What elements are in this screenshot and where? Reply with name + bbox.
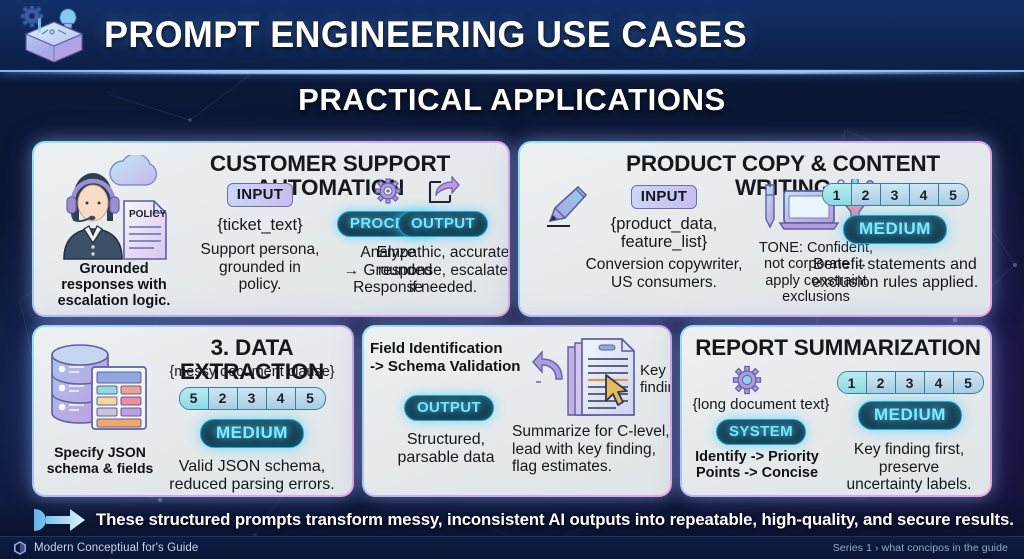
badge-input-copy[interactable]: INPUT bbox=[631, 185, 698, 209]
support-output-line-1: Empathic, accurate bbox=[377, 244, 508, 262]
card-title-field-identification: Field Identification -> Schema Validatio… bbox=[370, 340, 538, 376]
step-chip[interactable]: 3 bbox=[238, 388, 267, 409]
card-data-extraction[interactable]: Specify JSON schema & fields 3. DATA EXT… bbox=[32, 325, 354, 497]
step-chip[interactable]: 5 bbox=[180, 388, 209, 409]
footer-brand-group: Modern Conceptiual for's Guide bbox=[13, 541, 198, 555]
data-text-line-2: reduced parsing errors. bbox=[169, 476, 334, 494]
right-arrow-icon bbox=[34, 507, 86, 533]
step-chip[interactable]: 5 bbox=[954, 372, 983, 393]
copy-input-line-2: US consumers. bbox=[586, 274, 743, 292]
badge-medium-report[interactable]: MEDIUM bbox=[858, 401, 962, 430]
step-chip[interactable]: 1 bbox=[823, 184, 852, 205]
summary-banner: These structured prompts transform messy… bbox=[0, 503, 1024, 536]
data-icon-caption: Specify JSON schema & fields bbox=[38, 445, 162, 476]
header-divider-glow bbox=[0, 70, 1024, 74]
field-right-text: Summarize for C-level, lead with key fin… bbox=[512, 423, 670, 476]
support-input-line-2: grounded in bbox=[201, 259, 320, 277]
step-chip[interactable]: 1 bbox=[838, 372, 867, 393]
step-indicator-report[interactable]: 1 2 3 4 5 bbox=[837, 371, 984, 394]
column-medium-copy: 1 2 3 4 5 MEDIUM Benefit statements and … bbox=[800, 183, 990, 292]
infographic-canvas: PROMPT ENGINEERING USE CASES PRACTICAL A… bbox=[0, 0, 1024, 559]
gear-icon bbox=[730, 363, 764, 397]
step-chip[interactable]: 4 bbox=[925, 372, 954, 393]
step-indicator-copy[interactable]: 1 2 3 4 5 bbox=[822, 183, 969, 206]
variable-long-document: {long document text} bbox=[682, 397, 840, 414]
footer-series-label: Series 1 › what concipos in the guide bbox=[833, 542, 1008, 554]
report-left-text: Identify -> Priority Points -> Concise bbox=[682, 449, 832, 481]
hexagon-logo-icon bbox=[13, 541, 27, 555]
copy-input-line-1: Conversion copywriter, bbox=[586, 256, 743, 274]
card-title-report-summarization: REPORT SUMMARIZATION bbox=[690, 336, 986, 360]
variable-product-data-line-2: feature_list} bbox=[611, 233, 717, 251]
step-chip[interactable]: 2 bbox=[209, 388, 238, 409]
step-chip[interactable]: 5 bbox=[939, 184, 968, 205]
data-text-line-1: Valid JSON schema, bbox=[169, 458, 334, 476]
variable-product-data-line-1: {product_data, bbox=[611, 215, 717, 233]
variable-ticket-text: {ticket_text} bbox=[217, 216, 302, 234]
step-chip[interactable]: 2 bbox=[852, 184, 881, 205]
support-output-line-2: response, escalate bbox=[377, 262, 508, 280]
support-output-line-3: if needed. bbox=[377, 279, 508, 297]
badge-output-field[interactable]: OUTPUT bbox=[404, 395, 494, 421]
column-input-support: INPUT {ticket_text} Support persona, gro… bbox=[184, 183, 336, 294]
step-chip[interactable]: 4 bbox=[267, 388, 296, 409]
badge-system[interactable]: SYSTEM bbox=[716, 419, 806, 445]
stacked-documents-cursor-icon bbox=[566, 335, 642, 421]
page-footer: Modern Conceptiual for's Guide Series 1 … bbox=[0, 536, 1024, 559]
step-chip[interactable]: 5 bbox=[296, 388, 325, 409]
card-product-copy-content-writing[interactable]: PRODUCT COPY & CONTENT WRITING INPUT {pr… bbox=[518, 141, 992, 317]
step-chip[interactable]: 3 bbox=[881, 184, 910, 205]
card-field-identification[interactable]: Field Identification -> Schema Validatio… bbox=[362, 325, 672, 497]
policy-doc-label: POLICY bbox=[129, 209, 167, 220]
column-input-copy: INPUT {product_data, feature_list} Conve… bbox=[580, 185, 748, 291]
support-input-line-1: Support persona, bbox=[201, 241, 320, 259]
section-subtitle: PRACTICAL APPLICATIONS bbox=[0, 82, 1024, 118]
column-data-extraction: {messy document clause} 5 2 3 4 5 MEDIUM… bbox=[154, 365, 350, 494]
badge-output[interactable]: OUTPUT bbox=[398, 211, 488, 237]
support-icon-caption: Grounded responses with escalation logic… bbox=[40, 261, 188, 310]
key-findings-caption: Key findings bbox=[640, 363, 670, 397]
support-input-line-3: policy. bbox=[201, 276, 320, 294]
step-chip[interactable]: 3 bbox=[896, 372, 925, 393]
step-indicator-data[interactable]: 5 2 3 4 5 bbox=[179, 387, 326, 410]
page-header: PROMPT ENGINEERING USE CASES bbox=[0, 0, 1024, 72]
copy-medium-line-1: Benefit statements and bbox=[812, 256, 978, 274]
share-arrow-icon bbox=[426, 176, 460, 206]
footer-brand-label: Modern Conceptiual for's Guide bbox=[34, 542, 198, 554]
card-report-summarization[interactable]: REPORT SUMMARIZATION {long docume bbox=[680, 325, 992, 497]
summary-banner-text: These structured prompts transform messy… bbox=[96, 510, 1014, 530]
step-chip[interactable]: 4 bbox=[910, 184, 939, 205]
field-left-text: Structured, parsable data bbox=[370, 431, 522, 467]
database-table-icon bbox=[46, 341, 152, 433]
step-chip[interactable]: 2 bbox=[867, 372, 896, 393]
copy-medium-line-2: exclusion rules applied. bbox=[812, 274, 978, 292]
variable-messy-document: {messy document clause} bbox=[169, 365, 334, 381]
badge-input[interactable]: INPUT bbox=[227, 183, 294, 207]
badge-medium-copy[interactable]: MEDIUM bbox=[843, 215, 947, 244]
column-output-support: OUTPUT Empathic, accurate response, esca… bbox=[374, 176, 508, 297]
page-title: PROMPT ENGINEERING USE CASES bbox=[104, 14, 747, 56]
toolbox-gear-lightbulb-icon bbox=[18, 6, 88, 64]
card-customer-support-automation[interactable]: POLICY Grounded responses with escalatio… bbox=[32, 141, 510, 317]
report-right-text: Key finding first, preserve uncertainty … bbox=[828, 441, 990, 494]
badge-medium-data[interactable]: MEDIUM bbox=[200, 419, 304, 448]
